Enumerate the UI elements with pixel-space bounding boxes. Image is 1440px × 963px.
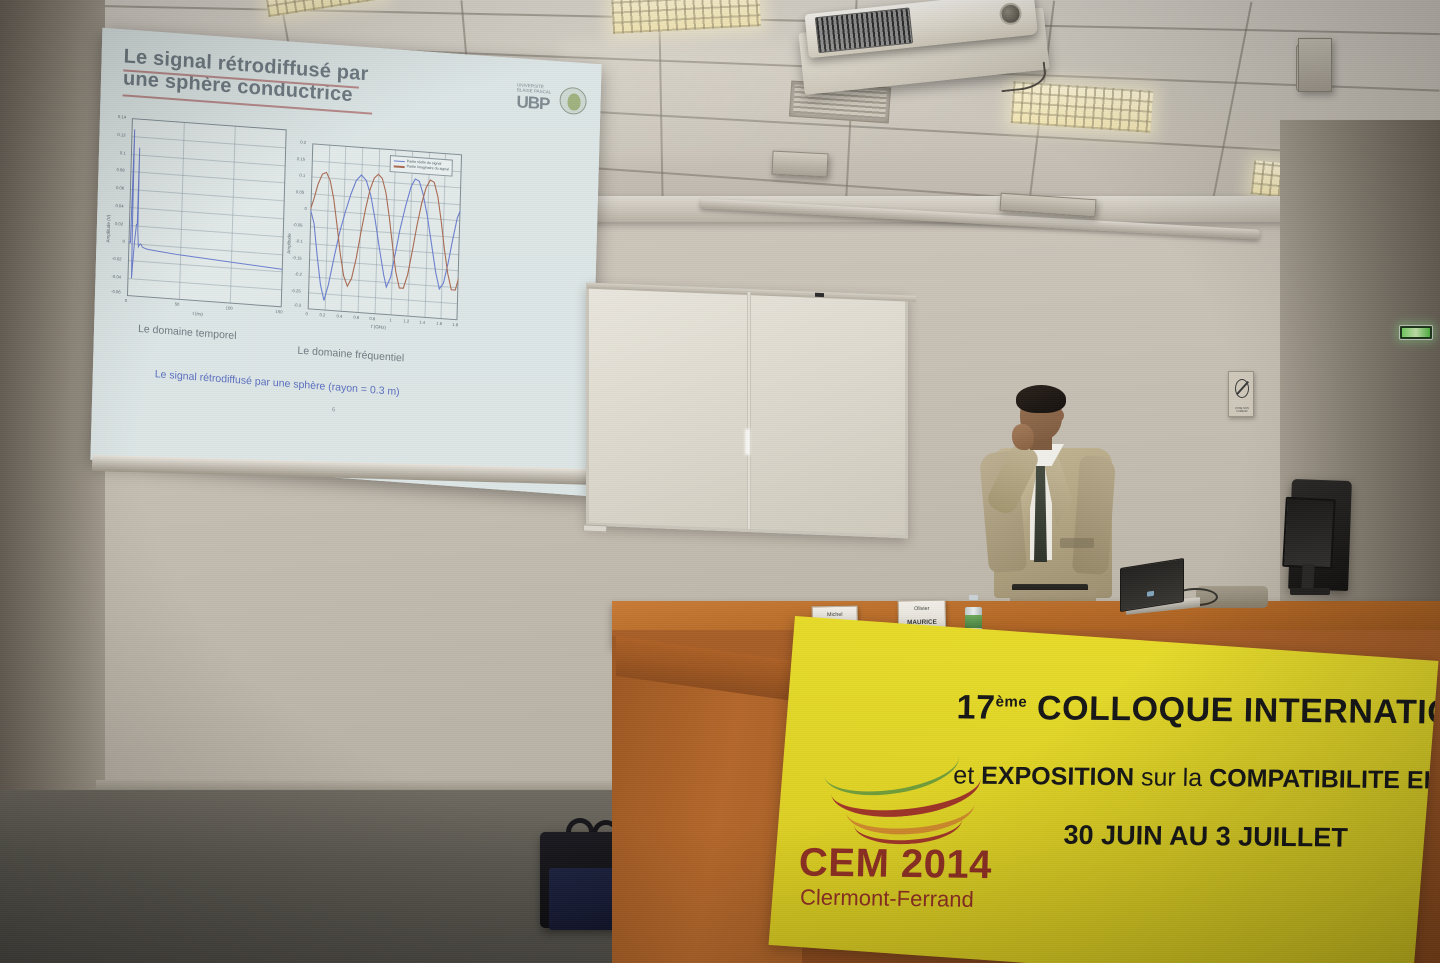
tick-y: 0.1 (299, 172, 305, 177)
xaxis-label-freq: f (GHz) (371, 324, 386, 330)
ubp-logo: UNIVERSITÉ BLAISE PASCAL UBP (516, 82, 553, 115)
whiteboard-panel-divider (747, 292, 751, 529)
tick-x: 100 (226, 305, 233, 311)
tick-x: 0.6 (353, 315, 359, 320)
tick-x: 1.6 (436, 321, 442, 326)
tick-y: 0.12 (117, 132, 125, 138)
monitor-base (1290, 588, 1330, 595)
banner-inner: CEM 2014 Clermont-Ferrand 17ème COLLOQUE… (769, 616, 1439, 963)
presenter-hair (1016, 385, 1066, 413)
legend-swatch-imag (394, 166, 405, 168)
tick-x: 150 (276, 309, 283, 315)
projector-vent-grille (815, 7, 913, 53)
tick-y: 0.08 (116, 167, 124, 173)
banner-ordinal-suffix: ème (995, 693, 1027, 710)
presenter-jacket-pocket (1060, 538, 1094, 548)
banner-line2-main: EXPOSITION (981, 762, 1134, 792)
tick-y: 0.14 (118, 114, 126, 120)
ubp-logo-text: UBP (516, 92, 549, 113)
tick-y: 0.05 (296, 189, 304, 195)
university-logos: UNIVERSITÉ BLAISE PASCAL UBP (516, 74, 587, 123)
name-card-first-name: Olivier (899, 606, 945, 613)
tick-y: -0.1 (296, 238, 303, 244)
exit-sign (1399, 325, 1433, 340)
whiteboard-glare (745, 429, 750, 455)
slide-number: 6 (332, 407, 336, 413)
tick-y: 0.02 (115, 221, 123, 227)
tick-y: 0.2 (300, 139, 306, 144)
banner-line2-prefix: et (953, 761, 981, 789)
bottle-label (965, 615, 982, 628)
cem-logo-title: CEM 2014 (798, 841, 992, 889)
projection-screen: Le signal rétrodiffusé par une sphère co… (90, 28, 601, 496)
tick-y: -0.02 (112, 256, 122, 262)
monitor-stand (1301, 564, 1314, 591)
conference-banner: CEM 2014 Clermont-Ferrand 17ème COLLOQUE… (769, 616, 1439, 963)
laptop-logo (1147, 591, 1154, 597)
whiteboard-marker (815, 293, 824, 297)
tick-y: -0.2 (295, 271, 302, 277)
yaxis-label-freq: Amplitude (286, 233, 292, 254)
slide-content: Le signal rétrodiffusé par une sphère co… (90, 28, 601, 496)
tick-y: -0.04 (111, 274, 121, 280)
secondary-logo (559, 86, 587, 115)
tick-y: -0.25 (291, 288, 301, 294)
tick-y: -0.06 (111, 289, 121, 295)
tick-x: 0.2 (319, 312, 325, 317)
tick-x: 50 (175, 302, 180, 307)
time-domain-curve (127, 118, 287, 307)
ceiling-projector (796, 0, 1055, 102)
legend-swatch-real (394, 160, 405, 162)
tick-x: 1.8 (452, 322, 458, 327)
laptop-computer (1120, 563, 1196, 611)
xaxis-label-time: t (ns) (192, 311, 203, 317)
banner-line-3: 30 JUIN AU 3 JUILLET (1063, 820, 1348, 854)
banner-line2-tail: COMPATIBILITE ELECTROMAGNETIQUE (1209, 764, 1439, 797)
banner-line-2: et EXPOSITION sur la COMPATIBILITE ELECT… (953, 761, 1438, 798)
projector-lens (998, 2, 1022, 26)
cem-logo-subtitle: Clermont-Ferrand (800, 884, 974, 912)
presenter-hand (1012, 424, 1034, 450)
whiteboard (586, 283, 908, 539)
conference-room-photo: Le signal rétrodiffusé par une sphère co… (0, 0, 1440, 963)
banner-title-main: COLLOQUE INTERNATIONAL (1037, 689, 1439, 732)
bottle-cap (969, 595, 978, 600)
tick-y: -0.05 (293, 222, 303, 228)
tick-y: 0.1 (120, 150, 126, 155)
banner-line2-mid: sur la (1134, 763, 1210, 792)
tick-y: 0 (304, 206, 306, 211)
banner-ordinal-number: 17 (956, 688, 996, 726)
caption-frequency-domain: Le domaine fréquentiel (297, 345, 404, 365)
tick-y: -0.15 (292, 255, 302, 261)
tick-x: 0 (305, 311, 307, 316)
presenter-ear (1056, 410, 1064, 421)
slide-title: Le signal rétrodiffusé par une sphère co… (123, 45, 414, 111)
tick-x: 0.4 (336, 313, 342, 318)
desk-cables (1196, 586, 1268, 608)
caption-bottom: Le signal rétrodiffusé par une sphère (r… (155, 368, 400, 398)
tick-x: 0 (125, 298, 127, 303)
whiteboard-tray (583, 524, 607, 532)
tick-x: 1 (389, 317, 391, 322)
banner-line-1: 17ème COLLOQUE INTERNATIONAL (956, 688, 1438, 733)
tick-y: 0.15 (297, 156, 305, 162)
no-smoking-caption: ZONE NON FUMEUR (1232, 407, 1252, 413)
tick-y: 0 (122, 239, 124, 244)
tick-y: -0.3 (294, 302, 301, 308)
tick-x: 1.2 (403, 318, 409, 323)
no-smoking-sign: ZONE NON FUMEUR (1228, 371, 1254, 417)
tick-y: 0.04 (115, 203, 123, 209)
tick-x: 1.4 (419, 319, 425, 324)
wall-speaker-right (1298, 38, 1332, 92)
chart-frequency-domain: 0.2 0.15 0.1 0.05 0 -0.05 -0.1 -0.15 -0.… (308, 143, 462, 320)
monitor-screen (1282, 497, 1336, 570)
tick-x: 0.8 (369, 316, 375, 321)
tick-y: 0.06 (116, 185, 124, 191)
yaxis-label-time: Amplitude (V) (105, 215, 111, 243)
chart-time-domain: 0.14 0.12 0.1 0.08 0.06 0.04 0.02 0 -0.0… (127, 118, 287, 307)
external-monitor (1284, 498, 1342, 598)
exit-sign-glow (1402, 328, 1430, 337)
wall-speaker-left (771, 151, 828, 178)
caption-time-domain: Le domaine temporel (138, 323, 237, 342)
